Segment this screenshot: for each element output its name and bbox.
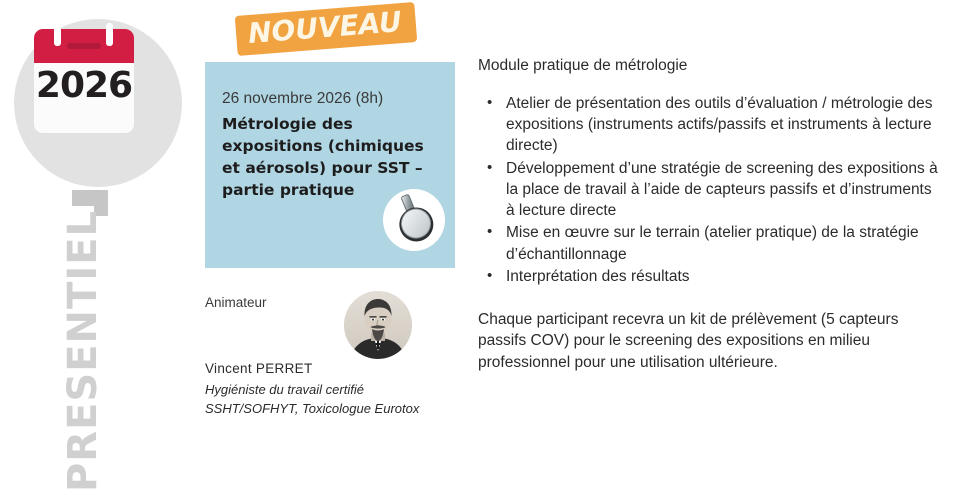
list-item: Mise en œuvre sur le terrain (atelier pr…	[478, 222, 938, 264]
avatar	[344, 291, 412, 359]
calendar-icon: 2026	[34, 29, 134, 133]
list-item: Développement d’une stratégie de screeni…	[478, 158, 938, 222]
calendar-ring-left-icon	[54, 23, 61, 46]
format-label-presentiel: PRESENTIEL	[60, 206, 106, 496]
calendar-year-label: 2026	[34, 65, 134, 106]
session-title: Métrologie des expositions (chimiques et…	[222, 113, 444, 201]
module-bullet-list: Atelier de présentation des outils d’éva…	[478, 93, 938, 287]
sampler-glyph	[383, 189, 445, 251]
module-content: Module pratique de métrologie Atelier de…	[478, 56, 938, 388]
left-rail: 2026 PRESENTIEL	[0, 0, 200, 482]
passive-sampler-icon	[383, 189, 445, 251]
calendar-hole	[67, 43, 101, 49]
calendar-ring-right-icon	[106, 23, 113, 46]
trainer-name: Vincent PERRET	[205, 361, 313, 376]
session-column: NOUVEAU 26 novembre 2026 (8h) Métrologie…	[200, 0, 470, 482]
calendar-header-bar	[34, 29, 134, 63]
module-footnote: Chaque participant recevra un kit de pré…	[478, 309, 938, 373]
list-item: Atelier de présentation des outils d’éva…	[478, 93, 938, 157]
session-date: 26 novembre 2026 (8h)	[222, 90, 383, 108]
session-card: 26 novembre 2026 (8h) Métrologie des exp…	[205, 62, 455, 268]
avatar-portrait	[344, 291, 412, 359]
new-badge: NOUVEAU	[235, 2, 418, 56]
new-badge-label: NOUVEAU	[247, 8, 403, 48]
list-item: Interprétation des résultats	[478, 266, 938, 287]
trainer-section-label: Animateur	[205, 295, 267, 310]
module-heading: Module pratique de métrologie	[478, 56, 938, 77]
trainer-role: Hygiéniste du travail certifié SSHT/SOFH…	[205, 380, 435, 418]
